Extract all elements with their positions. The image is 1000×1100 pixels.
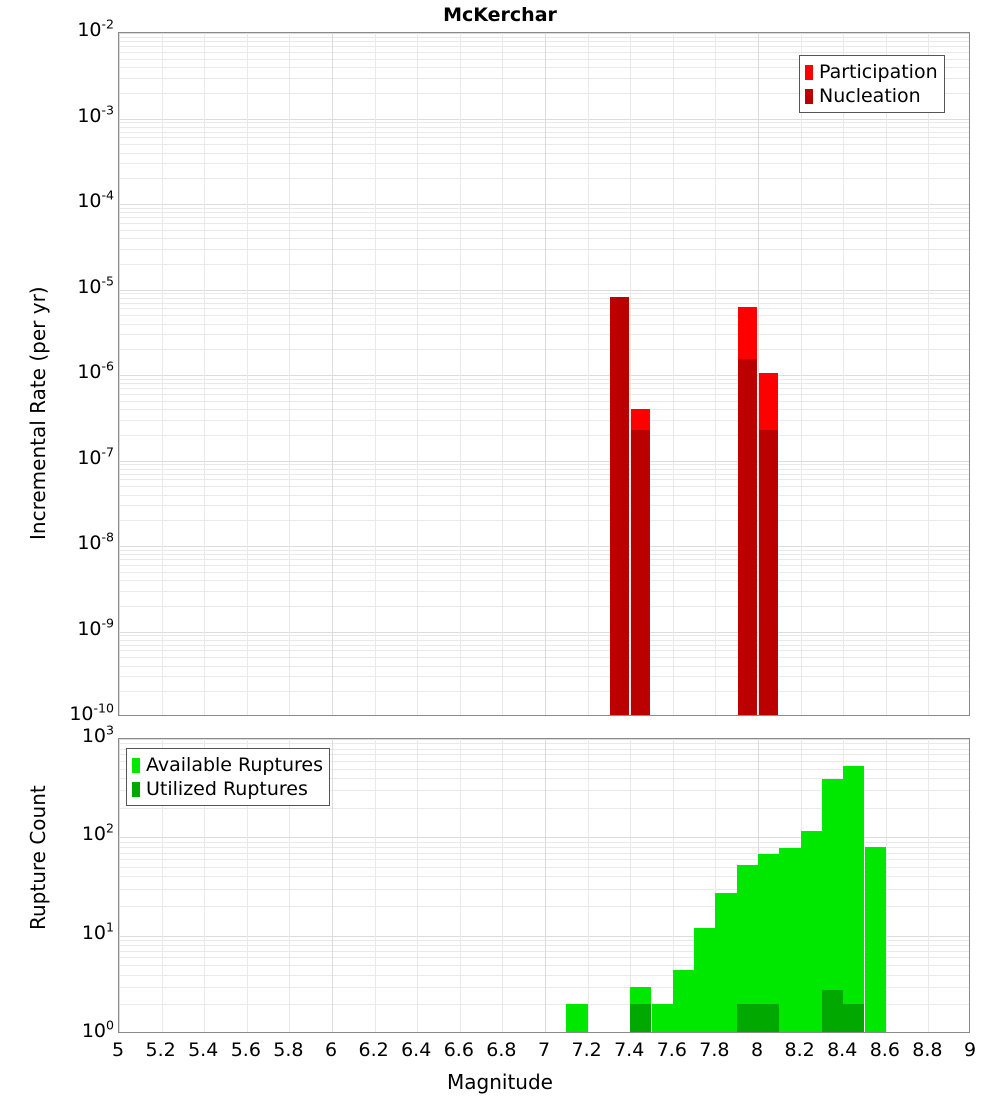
axis-label-incremental-rate: Incremental Rate (per yr) xyxy=(26,286,50,540)
legend-item[interactable]: Utilized Ruptures xyxy=(132,777,323,801)
bar-bottom xyxy=(652,1004,673,1033)
x-tick-label: 6.8 xyxy=(486,1039,516,1061)
gridline-vertical xyxy=(289,33,290,715)
legend-item[interactable]: Available Ruptures xyxy=(132,753,323,777)
y-axis-ticks-bottom: 103102101100 xyxy=(52,730,114,1100)
gridline-vertical xyxy=(119,739,120,1032)
bar-top xyxy=(738,359,757,716)
bar-bottom xyxy=(758,1004,779,1033)
bar-bottom xyxy=(801,831,822,1033)
bar-bottom xyxy=(843,1004,864,1033)
panel-rupture-count: Rupture Count 103102101100 Available Rup… xyxy=(0,730,1000,1100)
x-tick-label: 7.2 xyxy=(571,1039,601,1061)
y-tick-label: 10-10 xyxy=(69,705,114,724)
y-tick-label: 10-8 xyxy=(77,534,114,553)
bar-bottom xyxy=(843,766,864,1033)
y-tick-label: 10-9 xyxy=(77,620,114,639)
y-tick-label: 10-3 xyxy=(77,107,114,126)
x-tick-label: 6.6 xyxy=(444,1039,474,1061)
bar-top xyxy=(610,297,629,716)
gridline-vertical xyxy=(204,33,205,715)
y-tick-label: 100 xyxy=(82,1022,114,1041)
gridline-vertical xyxy=(417,33,418,715)
gridline-vertical xyxy=(332,739,333,1032)
plot-area-incremental-rate xyxy=(118,32,970,716)
bar-top xyxy=(631,430,650,716)
y-tick-label: 10-4 xyxy=(77,192,114,211)
gridline-vertical xyxy=(502,739,503,1032)
x-tick-label: 7 xyxy=(538,1039,550,1061)
bar-bottom xyxy=(779,848,800,1033)
bar-bottom xyxy=(865,847,886,1033)
gridline-vertical xyxy=(119,33,120,715)
legend-rupture-count[interactable]: Available RupturesUtilized Ruptures xyxy=(126,748,330,806)
x-tick-label: 6 xyxy=(325,1039,337,1061)
y-tick-label: 10-5 xyxy=(77,278,114,297)
x-tick-label: 8.2 xyxy=(784,1039,814,1061)
x-tick-label: 8.8 xyxy=(912,1039,942,1061)
legend-label: Nucleation xyxy=(819,87,921,106)
x-tick-label: 7.8 xyxy=(699,1039,729,1061)
x-tick-label: 6.2 xyxy=(358,1039,388,1061)
legend-item[interactable]: Participation xyxy=(805,60,938,84)
bar-bottom xyxy=(737,1004,758,1033)
bar-bottom xyxy=(715,893,736,1033)
x-tick-label: 5.2 xyxy=(145,1039,175,1061)
bar-bottom xyxy=(673,970,694,1033)
gridline-vertical xyxy=(502,33,503,715)
y-tick-label: 10-6 xyxy=(77,363,114,382)
gridline-vertical xyxy=(545,33,546,715)
x-tick-label: 5.8 xyxy=(273,1039,303,1061)
gridline-vertical xyxy=(928,33,929,715)
legend-label: Utilized Ruptures xyxy=(146,780,308,799)
axis-label-rupture-count: Rupture Count xyxy=(26,785,50,930)
figure-root: McKerchar Incremental Rate (per yr) 10-2… xyxy=(0,0,1000,1100)
legend-swatch-icon xyxy=(132,758,140,773)
legend-incremental-rate[interactable]: ParticipationNucleation xyxy=(799,55,945,113)
bar-bottom xyxy=(566,1004,587,1033)
y-tick-label: 10-7 xyxy=(77,449,114,468)
gridline-vertical xyxy=(247,33,248,715)
gridline-vertical xyxy=(928,739,929,1032)
axis-label-magnitude: Magnitude xyxy=(0,1070,1000,1094)
gridline-vertical xyxy=(545,739,546,1032)
y-tick-label: 102 xyxy=(82,825,114,844)
x-tick-label: 7.6 xyxy=(657,1039,687,1061)
legend-swatch-icon xyxy=(132,782,140,797)
gridline-vertical xyxy=(332,33,333,715)
y-axis-ticks-top: 10-210-310-410-510-610-710-810-910-10 xyxy=(52,0,114,730)
gridline-vertical xyxy=(588,33,589,715)
bar-bottom xyxy=(694,928,715,1033)
x-tick-label: 8 xyxy=(751,1039,763,1061)
x-tick-label: 6.4 xyxy=(401,1039,431,1061)
gridline-vertical xyxy=(417,739,418,1032)
bar-bottom xyxy=(822,990,843,1033)
x-tick-label: 8.6 xyxy=(870,1039,900,1061)
gridline-vertical xyxy=(886,739,887,1032)
legend-label: Participation xyxy=(819,63,938,82)
x-tick-label: 7.4 xyxy=(614,1039,644,1061)
gridline-vertical xyxy=(886,33,887,715)
x-tick-label: 5.4 xyxy=(188,1039,218,1061)
x-tick-label: 5 xyxy=(112,1039,124,1061)
gridline-vertical xyxy=(375,33,376,715)
panel-incremental-rate: Incremental Rate (per yr) 10-210-310-410… xyxy=(0,0,1000,730)
y-tick-label: 101 xyxy=(82,924,114,943)
legend-item[interactable]: Nucleation xyxy=(805,84,938,108)
gridline-vertical xyxy=(843,33,844,715)
gridline-vertical xyxy=(460,739,461,1032)
gridline-vertical xyxy=(588,739,589,1032)
gridline-vertical xyxy=(673,33,674,715)
legend-label: Available Ruptures xyxy=(146,756,323,775)
gridline-vertical xyxy=(162,33,163,715)
y-tick-label: 103 xyxy=(82,727,114,746)
bar-top xyxy=(759,430,778,716)
x-tick-label: 9 xyxy=(964,1039,976,1061)
x-tick-label: 8.4 xyxy=(827,1039,857,1061)
gridline-vertical xyxy=(715,33,716,715)
x-tick-label: 5.6 xyxy=(231,1039,261,1061)
gridline-vertical xyxy=(801,33,802,715)
gridline-vertical xyxy=(460,33,461,715)
bar-bottom xyxy=(630,1004,651,1033)
legend-swatch-icon xyxy=(805,65,813,80)
y-tick-label: 10-2 xyxy=(77,21,114,40)
legend-swatch-icon xyxy=(805,89,813,104)
gridline-vertical xyxy=(375,739,376,1032)
